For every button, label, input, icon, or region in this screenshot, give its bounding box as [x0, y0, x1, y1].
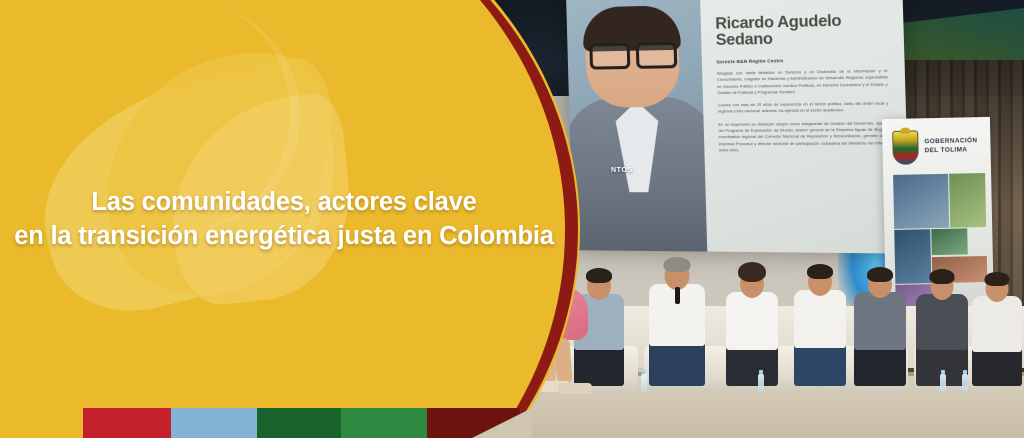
water-bottle: [940, 374, 946, 392]
slide-paragraph-2: Cuenta con más de 20 años de experiencia…: [718, 100, 889, 115]
panelist: [645, 256, 709, 386]
microphone-icon: [675, 287, 680, 304]
panelist: [790, 264, 850, 386]
bottom-bar-segment-red: [83, 408, 171, 438]
bottom-color-bar: [0, 408, 520, 438]
panelist-torso: [972, 296, 1022, 352]
panelist-torso: [726, 292, 778, 350]
panelist: [722, 266, 782, 386]
gobernacion-banner-title: GOBERNACIÓN DEL TOLIMA: [924, 137, 986, 156]
collage-tile: [949, 173, 986, 227]
panelist-hair: [738, 262, 766, 282]
collage-tile: [932, 229, 968, 256]
slide-speaker-role: Gerente B&N Región Centro: [716, 56, 887, 64]
panelist-hair: [985, 272, 1010, 286]
speaker-name-line2: Sedano: [716, 31, 773, 50]
headline-line-1: Las comunidades, actores clave: [91, 188, 476, 216]
slide-photo-caption: NTOS: [611, 167, 633, 174]
panelist-torso: [854, 292, 906, 350]
bottom-bar-segment-light-blue: [171, 408, 257, 438]
coat-of-arms-icon: [892, 130, 919, 165]
panelist-hair: [930, 269, 955, 284]
panelist: [968, 270, 1024, 386]
speaker-glasses-icon: [589, 42, 677, 64]
panelist: [912, 268, 972, 386]
speaker-name-line1: Ricardo Agudelo: [715, 12, 841, 32]
slide-text-block: Ricardo Agudelo Sedano Gerente B&N Regió…: [700, 0, 910, 254]
projected-slide: NTOS Ricardo Agudelo Sedano Gerente B&N …: [566, 0, 910, 254]
slide-paragraph-3: En su trayectoria se destacan cargos com…: [718, 120, 890, 154]
collage-tile: [893, 174, 949, 229]
panelist-hair: [867, 267, 893, 282]
bottom-bar-segment-dark-green: [257, 408, 341, 438]
panelist-hair: [664, 257, 691, 272]
slide-speaker-name: Ricardo Agudelo Sedano: [715, 12, 886, 50]
page-title: Las comunidades, actores clave en la tra…: [0, 186, 560, 253]
bottom-bar-padding: [0, 408, 83, 438]
water-bottle: [641, 374, 647, 392]
bottom-bar-segment-medium-green: [341, 408, 427, 438]
panelist-hair: [807, 264, 833, 279]
panelist-torso: [794, 290, 846, 348]
headline-line-2: en la transición energética justa en Col…: [8, 220, 560, 254]
panelist: [850, 266, 910, 386]
water-bottle: [962, 374, 968, 392]
water-bottle: [758, 374, 764, 392]
slide-paragraph-1: Abogado con doble titulación en Derecho …: [717, 68, 888, 97]
panelist-torso: [916, 294, 968, 350]
event-banner: NTOS Ricardo Agudelo Sedano Gerente B&N …: [0, 0, 1024, 438]
